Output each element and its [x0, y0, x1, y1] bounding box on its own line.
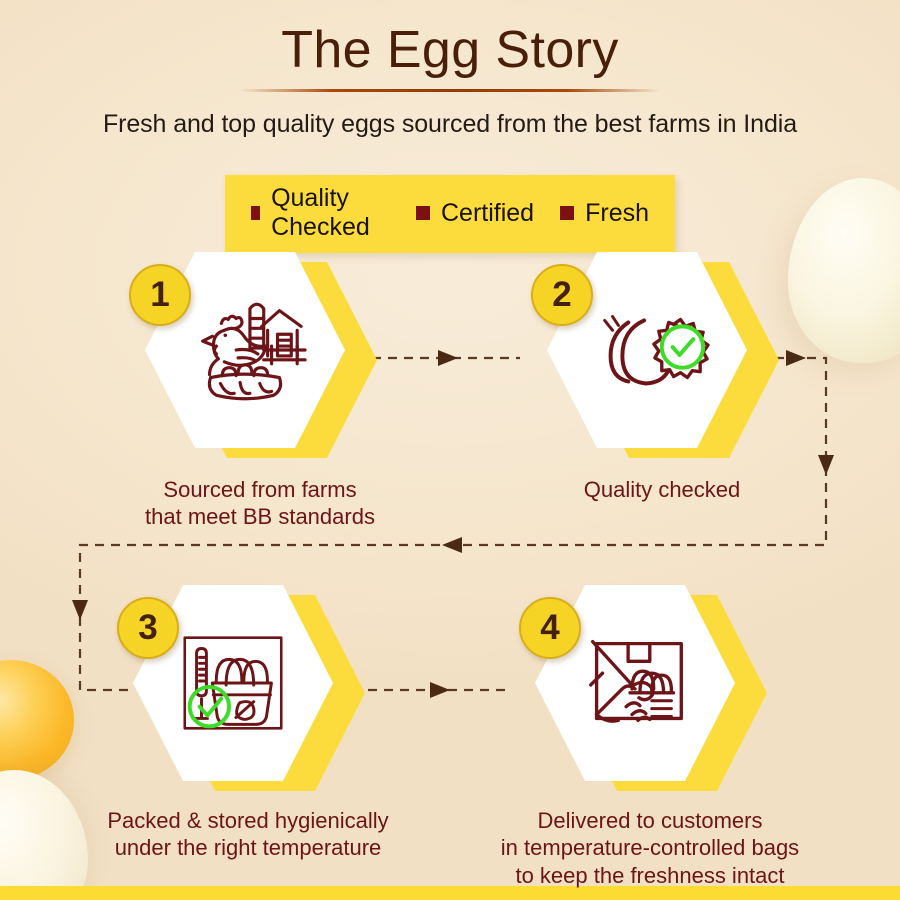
infographic-canvas: The Egg Story Fresh and top quality eggs…	[0, 0, 900, 900]
arrow-head-3-to-4	[430, 682, 450, 698]
step-4-number: 4	[519, 597, 581, 659]
step-1: 1 Sourced from farms that meet BB standa…	[110, 252, 410, 531]
step-2: 2 Quality checked	[512, 252, 812, 503]
arrow-head-1-to-2	[438, 350, 458, 366]
step-3-hexagon: 3	[133, 585, 363, 793]
step-1-number: 1	[129, 264, 191, 326]
arrow-head-left	[442, 537, 462, 553]
step-4: 4 Delivered to customers in temperature-…	[500, 585, 800, 889]
step-2-hexagon: 2	[547, 252, 777, 460]
step-3-caption: Packed & stored hygienically under the r…	[98, 807, 398, 862]
step-3: 3 Packed & stored hygienically under the…	[98, 585, 398, 862]
egg-basket-thermometer-icon	[169, 623, 297, 743]
step-4-hexagon: 4	[535, 585, 765, 793]
arrow-head-down-left	[72, 600, 88, 620]
step-1-caption: Sourced from farms that meet BB standard…	[110, 476, 410, 531]
delivery-handover-box-icon	[571, 623, 699, 743]
step-2-number: 2	[531, 264, 593, 326]
step-2-caption: Quality checked	[512, 476, 812, 503]
step-4-caption: Delivered to customers in temperature-co…	[500, 807, 800, 889]
step-1-hexagon: 1	[145, 252, 375, 460]
eggs-quality-check-badge-icon	[583, 290, 711, 410]
hen-on-nest-farm-icon	[181, 290, 309, 410]
step-3-number: 3	[117, 597, 179, 659]
arrow-head-down	[818, 455, 834, 475]
